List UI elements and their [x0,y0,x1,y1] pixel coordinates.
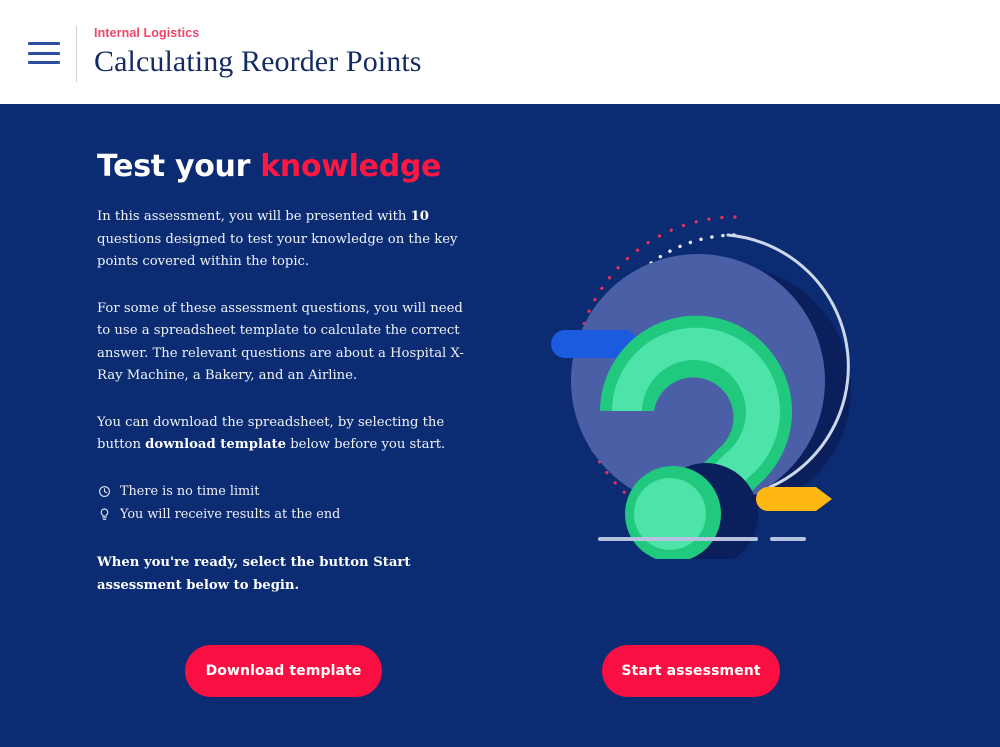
question-mark-illustration [520,199,880,559]
paragraph-1-question-count: 10 [411,209,429,224]
start-assessment-button[interactable]: Start assessment [602,645,780,697]
paragraph-3-button-name: download template [145,437,286,452]
list-item: You will receive results at the end [97,504,497,525]
header-divider [76,26,77,82]
assessment-intro-page: Internal Logistics Calculating Reorder P… [0,0,1000,747]
bottom-line-long [598,537,758,541]
paragraph-1: In this assessment, you will be presente… [97,206,469,274]
hamburger-line-3 [28,61,60,64]
bullet-label: There is no time limit [120,481,259,502]
clock-icon [97,483,111,500]
bottom-line-short [770,537,806,541]
paragraph-3-part-b: below before you start. [286,437,445,452]
intro-content: Test your knowledge In this assessment, … [97,150,497,597]
bullet-label: You will receive results at the end [120,504,340,525]
info-bullet-list: There is no time limit You will receive … [97,481,497,525]
page-title: Calculating Reorder Points [94,45,422,79]
closing-instruction: When you're ready, select the button Sta… [97,551,457,597]
hamburger-menu-icon[interactable] [28,42,60,64]
hamburger-line-1 [28,42,60,45]
paragraph-1-part-b: questions designed to test your knowledg… [97,232,457,270]
paragraph-2: For some of these assessment questions, … [97,298,469,388]
main-panel: Test your knowledge In this assessment, … [0,104,1000,747]
page-header: Internal Logistics Calculating Reorder P… [0,0,1000,104]
list-item: There is no time limit [97,481,497,502]
hamburger-line-2 [28,52,60,55]
headline-accent: knowledge [260,149,441,184]
yellow-bar [756,487,832,511]
breadcrumb[interactable]: Internal Logistics [94,26,422,40]
headline: Test your knowledge [97,150,497,184]
lightbulb-icon [97,506,111,523]
headline-plain: Test your [97,149,260,184]
paragraph-3: You can download the spreadsheet, by sel… [97,412,469,457]
download-template-button[interactable]: Download template [185,645,382,697]
paragraph-1-part-a: In this assessment, you will be presente… [97,209,411,224]
header-text-group: Internal Logistics Calculating Reorder P… [94,26,422,79]
